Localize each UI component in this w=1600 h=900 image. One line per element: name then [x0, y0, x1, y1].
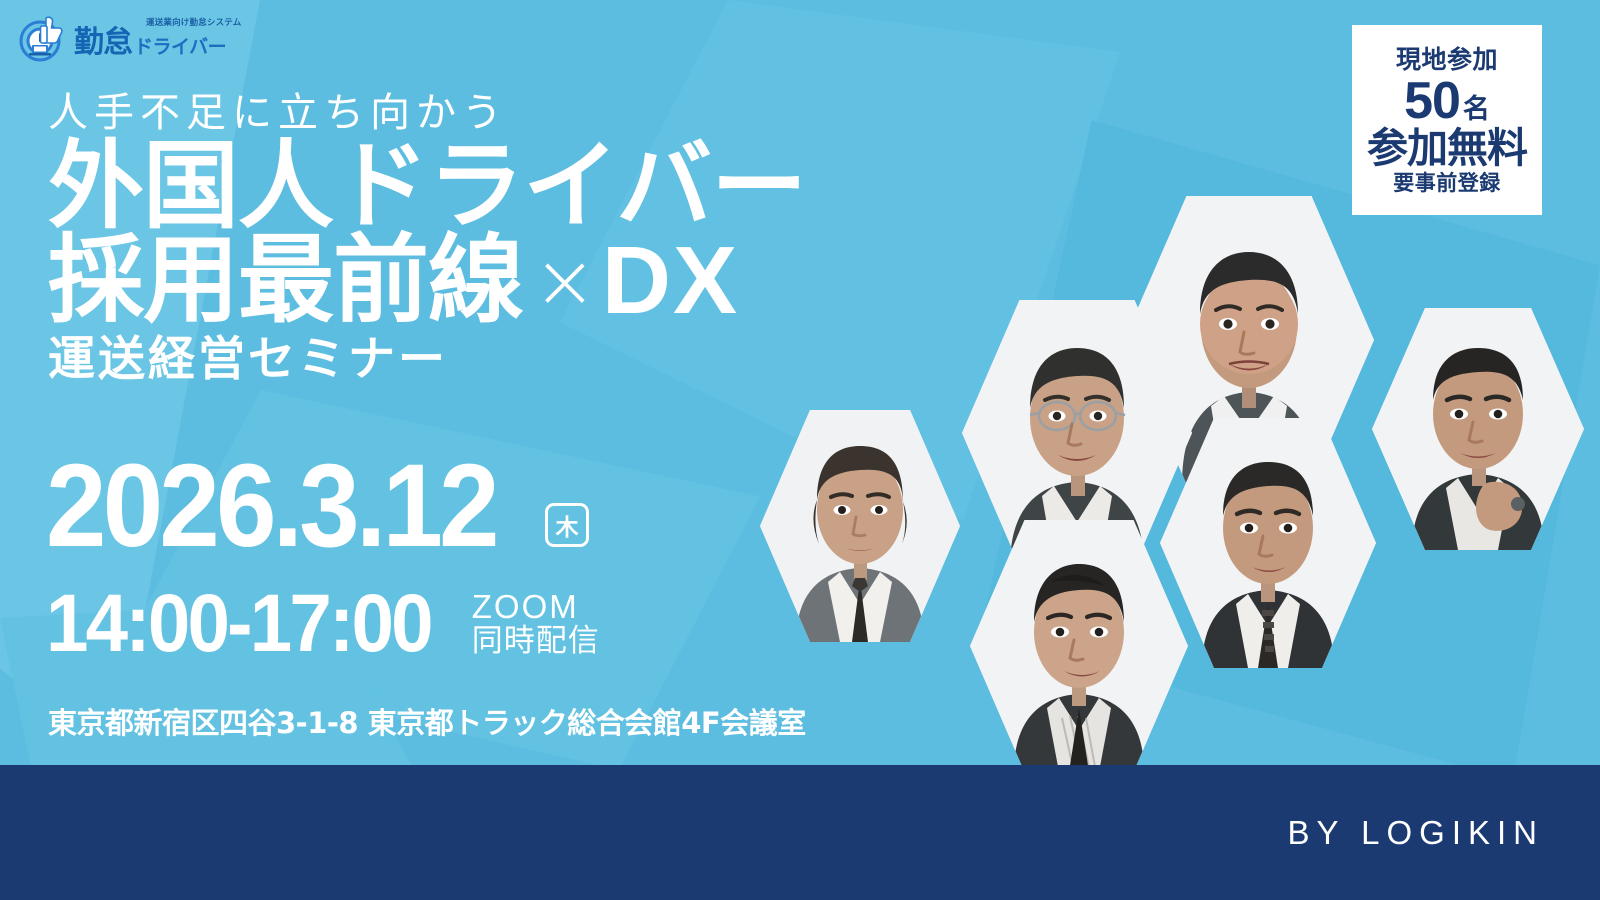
event-date: 2026.3.12 — [46, 452, 496, 561]
badge-content: 現地参加 50 名 参加無料 要事前登録 — [1367, 47, 1527, 194]
day-of-week-chip: 木 — [545, 503, 589, 547]
badge-capacity: 50 名 — [1367, 75, 1527, 127]
headline-title-line2: 採用最前線 × DX — [48, 232, 806, 330]
broadcast-note: 同時配信 — [472, 625, 600, 658]
speaker-photo-lower-middle — [970, 520, 1188, 772]
registration-badge: 現地参加 50 名 参加無料 要事前登録 — [1352, 25, 1542, 215]
cross-symbol: × — [533, 242, 596, 320]
footer-by-logikin: BY LOGIKIN — [1288, 814, 1544, 852]
badge-line-onsite: 現地参加 — [1367, 47, 1527, 72]
logo-kana: ドライバー — [134, 38, 226, 58]
badge-line-preregister: 要事前登録 — [1367, 173, 1527, 194]
event-time-row: 14:00-17:00 ZOOM 同時配信 — [46, 583, 600, 665]
headline-block: 人手不足に立ち向かう 外国人ドライバー 採用最前線 × DX 運送経営セミナー — [48, 92, 806, 386]
headline-title-dx: DX — [602, 232, 739, 330]
broadcast-info: ZOOM 同時配信 — [472, 590, 600, 657]
headline-kicker: 人手不足に立ち向かう — [48, 92, 806, 134]
badge-line-free: 参加無料 — [1367, 128, 1527, 169]
thumbs-up-clock-laptop-icon — [16, 12, 68, 64]
footer-bar: BY LOGIKIN — [0, 765, 1600, 900]
headline-title-main: 採用最前線 — [48, 232, 523, 330]
badge-capacity-unit: 名 — [1463, 96, 1490, 123]
broadcast-platform: ZOOM — [472, 590, 600, 625]
logo-kanji: 勤怠 — [74, 28, 132, 58]
logo-tagline: 運送業向け勤怠システム — [146, 18, 241, 27]
brand-logo[interactable]: 運送業向け勤怠システム 勤怠 ドライバー — [16, 12, 241, 64]
event-time: 14:00-17:00 — [46, 583, 431, 665]
seminar-banner: 運送業向け勤怠システム 勤怠 ドライバー — [0, 0, 1600, 900]
headline-subtitle: 運送経営セミナー — [48, 334, 806, 386]
event-date-row: 2026.3.12 木 — [46, 452, 589, 561]
speaker-photo-far-right — [1372, 308, 1584, 550]
badge-capacity-number: 50 — [1404, 75, 1460, 127]
venue-address: 東京都新宿区四谷3-1-8 東京都トラック総合会館4F会議室 — [48, 700, 806, 742]
headline-title-line1: 外国人ドライバー — [48, 138, 806, 236]
speaker-photo-left — [760, 410, 960, 642]
